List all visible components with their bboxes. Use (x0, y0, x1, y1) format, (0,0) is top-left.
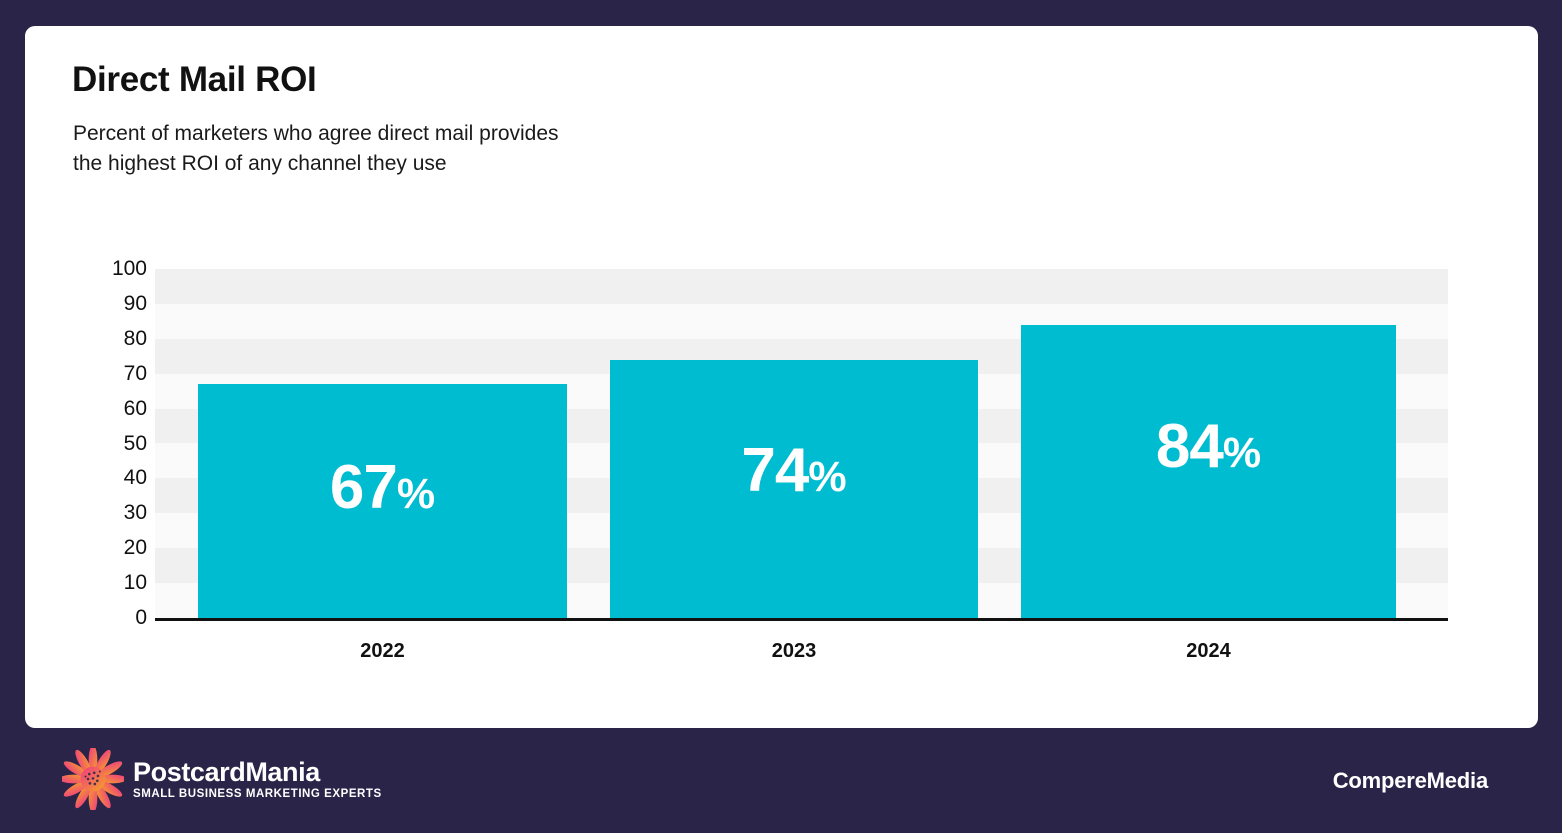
bar-value-label: 67% (198, 457, 567, 519)
infographic-root: Direct Mail ROI Percent of marketers who… (0, 0, 1562, 833)
y-tick-90: 90 (124, 292, 147, 316)
y-tick-20: 20 (124, 536, 147, 560)
bar-2023[interactable]: 74% (610, 360, 978, 618)
sunburst-flower-icon (62, 748, 124, 810)
bar-2022[interactable]: 67% (198, 384, 567, 618)
y-tick-0: 0 (135, 606, 147, 630)
bar-value-label: 84% (1021, 416, 1396, 478)
footer-bar: PostcardMania SMALL BUSINESS MARKETING E… (0, 728, 1562, 833)
y-tick-100: 100 (112, 257, 147, 281)
y-tick-30: 30 (124, 501, 147, 525)
x-tick-2022: 2022 (360, 640, 405, 663)
logo-wordmark: PostcardMania SMALL BUSINESS MARKETING E… (133, 758, 382, 800)
chart-card: Direct Mail ROI Percent of marketers who… (25, 26, 1538, 728)
x-axis-tick-labels: 202220232024 (155, 640, 1448, 670)
logo-tagline: SMALL BUSINESS MARKETING EXPERTS (133, 788, 382, 800)
chart-plot-area: 67%74%84% (155, 269, 1448, 618)
y-tick-60: 60 (124, 397, 147, 421)
y-tick-40: 40 (124, 466, 147, 490)
postcardmania-logo[interactable]: PostcardMania SMALL BUSINESS MARKETING E… (62, 748, 382, 810)
source-attribution: CompereMedia (1333, 768, 1488, 794)
bar-2024[interactable]: 84% (1021, 325, 1396, 618)
y-tick-50: 50 (124, 432, 147, 456)
chart-background-band (155, 269, 1448, 304)
x-axis-line (155, 618, 1448, 621)
y-tick-10: 10 (124, 571, 147, 595)
y-axis-tick-labels: 1009080706050403020100 (85, 269, 147, 618)
bar-chart: 67%74%84% 1009080706050403020100 2022202… (25, 26, 1538, 728)
logo-name: PostcardMania (133, 758, 382, 786)
bar-value-label: 74% (610, 440, 978, 502)
y-tick-80: 80 (124, 327, 147, 351)
x-tick-2023: 2023 (772, 640, 817, 663)
x-tick-2024: 2024 (1186, 640, 1231, 663)
y-tick-70: 70 (124, 362, 147, 386)
